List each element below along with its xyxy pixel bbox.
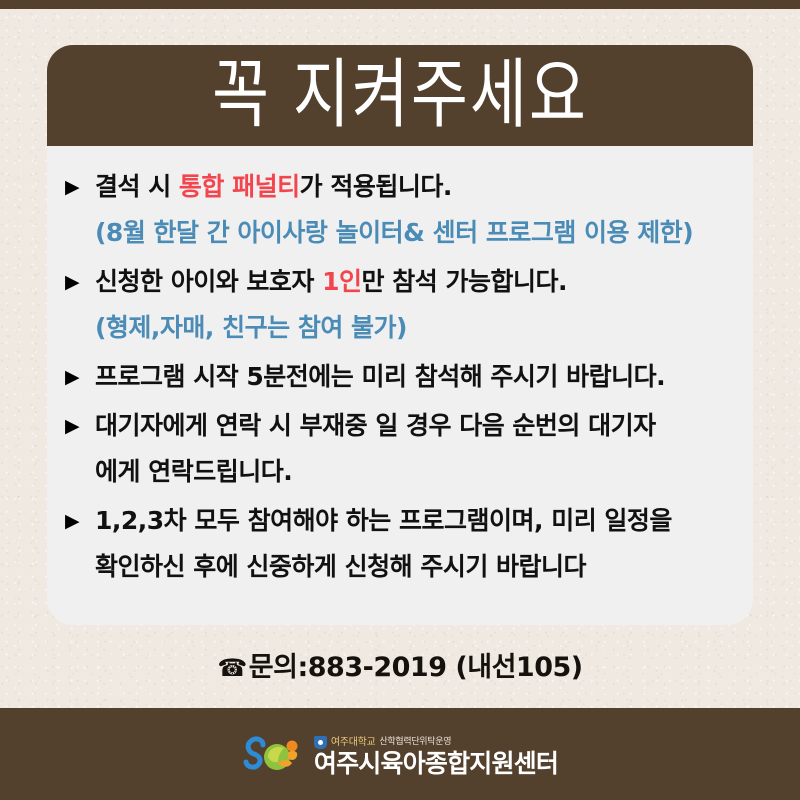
university-row: 여주대학교 산학협력단위탁운영 [314, 736, 558, 749]
rule-line: ▶신청한 아이와 보호자 1인만 참석 가능합니다. [65, 259, 735, 305]
bullet-triangle-icon: ▶ [65, 164, 95, 210]
rule-text: 결석 시 통합 패널티가 적용됩니다. [95, 164, 452, 210]
plain-text: 가 적용됩니다. [300, 172, 452, 201]
rule-line: ▶대기자에게 연락 시 부재중 일 경우 다음 순번의 대기자 [65, 403, 735, 449]
rule-text: 대기자에게 연락 시 부재중 일 경우 다음 순번의 대기자 [95, 403, 656, 449]
rule-line: ▶1,2,3차 모두 참여해야 하는 프로그램이며, 미리 일정을 [65, 498, 735, 544]
rule-line: ▶프로그램 시작 5분전에는 미리 참석해 주시기 바랍니다. [65, 354, 735, 400]
rule-item: ▶결석 시 통합 패널티가 적용됩니다.▶(8월 한달 간 아이사랑 놀이터& … [65, 164, 735, 256]
plain-text: 대기자에게 연락 시 부재중 일 경우 다음 순번의 대기자 [95, 411, 656, 440]
plain-text: 에게 연락드립니다. [95, 457, 292, 486]
highlighted-text: 통합 패널티 [179, 172, 300, 201]
center-logo-icon [242, 735, 304, 777]
top-accent-bar [0, 0, 800, 9]
plain-text: 확인하신 후에 신중하게 신청해 주시기 바랍니다 [95, 552, 586, 581]
bullet-triangle-icon: ▶ [65, 259, 95, 305]
rule-subnote: (8월 한달 간 아이사랑 놀이터& 센터 프로그램 이용 제한) [95, 210, 693, 256]
plain-text: 결석 시 [95, 172, 179, 201]
rule-continuation-line: ▶확인하신 후에 신중하게 신청해 주시기 바랍니다 [65, 544, 735, 590]
rule-item: ▶프로그램 시작 5분전에는 미리 참석해 주시기 바랍니다. [65, 354, 735, 400]
rule-item: ▶신청한 아이와 보호자 1인만 참석 가능합니다.▶(형제,자매, 친구는 참… [65, 259, 735, 351]
rule-line: ▶결석 시 통합 패널티가 적용됩니다. [65, 164, 735, 210]
university-shield-icon [314, 736, 327, 749]
contact-text: 문의:883-2019 (내선105) [249, 652, 583, 683]
rule-text: 확인하신 후에 신중하게 신청해 주시기 바랍니다 [95, 544, 586, 590]
rule-subnote: (형제,자매, 친구는 참여 불가) [95, 305, 407, 351]
organization-logo: 여주대학교 산학협력단위탁운영 여주시육아종합지원센터 [242, 735, 558, 777]
university-subtitle: 산학협력단위탁운영 [379, 736, 451, 749]
page-title: 꼭 지켜주세요 [212, 56, 588, 132]
rule-text: 1,2,3차 모두 참여해야 하는 프로그램이며, 미리 일정을 [95, 498, 672, 544]
footer-content: 여주대학교 산학협력단위탁운영 여주시육아종합지원센터 [0, 708, 800, 800]
bullet-triangle-icon: ▶ [65, 354, 95, 400]
rule-continuation-line: ▶에게 연락드립니다. [65, 449, 735, 495]
center-name: 여주시육아종합지원센터 [314, 750, 558, 777]
telephone-icon: ☎ [217, 654, 246, 682]
poster-canvas: 꼭 지켜주세요 ▶결석 시 통합 패널티가 적용됩니다.▶(8월 한달 간 아이… [0, 0, 800, 800]
contact-line: ☎문의:883-2019 (내선105) [0, 645, 800, 684]
bullet-triangle-icon: ▶ [65, 403, 95, 449]
rule-subnote-line: ▶(8월 한달 간 아이사랑 놀이터& 센터 프로그램 이용 제한) [65, 210, 735, 256]
footer-band: 여주대학교 산학협력단위탁운영 여주시육아종합지원센터 [0, 708, 800, 800]
university-name: 여주대학교 [331, 736, 376, 749]
rules-card: ▶결석 시 통합 패널티가 적용됩니다.▶(8월 한달 간 아이사랑 놀이터& … [47, 146, 753, 625]
plain-text: 신청한 아이와 보호자 [95, 267, 322, 296]
highlighted-text: 1인 [322, 267, 361, 296]
rules-list: ▶결석 시 통합 패널티가 적용됩니다.▶(8월 한달 간 아이사랑 놀이터& … [65, 164, 735, 590]
rule-item: ▶1,2,3차 모두 참여해야 하는 프로그램이며, 미리 일정을▶확인하신 후… [65, 498, 735, 590]
shield-inner-dot [318, 740, 323, 745]
poster-header: 꼭 지켜주세요 [47, 45, 753, 146]
rule-item: ▶대기자에게 연락 시 부재중 일 경우 다음 순번의 대기자▶에게 연락드립니… [65, 403, 735, 495]
rule-text: 신청한 아이와 보호자 1인만 참석 가능합니다. [95, 259, 567, 305]
rule-text: 프로그램 시작 5분전에는 미리 참석해 주시기 바랍니다. [95, 354, 665, 400]
rule-subnote-line: ▶(형제,자매, 친구는 참여 불가) [65, 305, 735, 351]
plain-text: 만 참석 가능합니다. [362, 267, 567, 296]
plain-text: 프로그램 시작 5분전에는 미리 참석해 주시기 바랍니다. [95, 362, 665, 391]
plain-text: 1,2,3차 모두 참여해야 하는 프로그램이며, 미리 일정을 [95, 506, 672, 535]
rule-text: 에게 연락드립니다. [95, 449, 292, 495]
bullet-triangle-icon: ▶ [65, 498, 95, 544]
logo-text-stack: 여주대학교 산학협력단위탁운영 여주시육아종합지원센터 [314, 736, 558, 777]
